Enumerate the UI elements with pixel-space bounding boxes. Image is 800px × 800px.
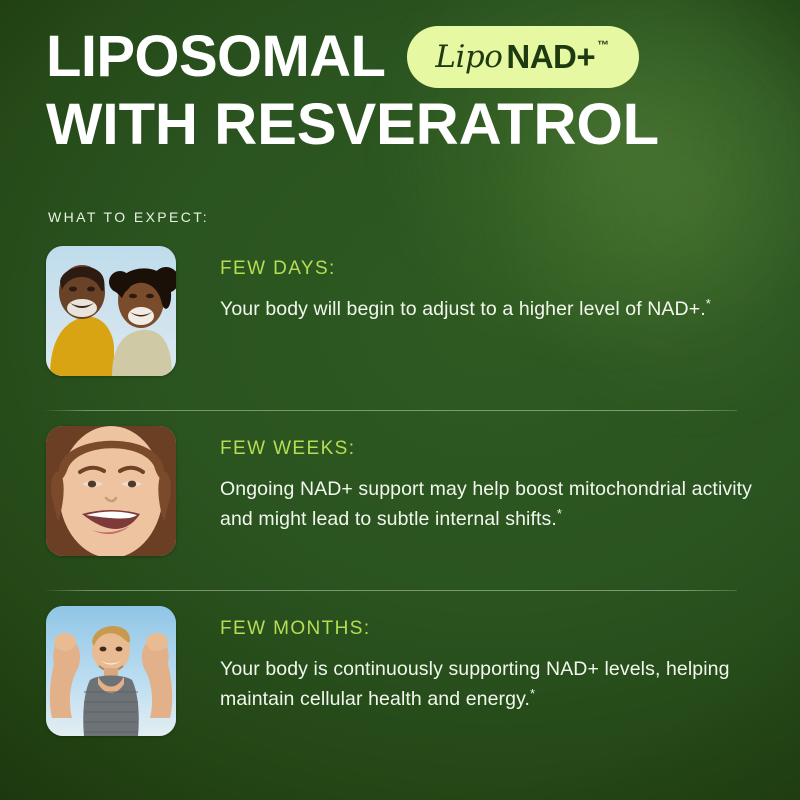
headline-row-first: LIPOSOMAL LipoNAD+™ bbox=[46, 26, 746, 88]
row-divider bbox=[46, 590, 737, 591]
content-layer: LIPOSOMAL LipoNAD+™ WITH RESVERATROL WHA… bbox=[0, 0, 800, 800]
list-item-body-text: Your body is continuously supporting NAD… bbox=[220, 658, 730, 710]
brand-badge-liponad: LipoNAD+™ bbox=[407, 26, 639, 88]
list-item-label: FEW MONTHS: bbox=[220, 618, 760, 640]
list-item: FEW MONTHS: Your body is continuously su… bbox=[0, 606, 800, 770]
footnote-asterisk: * bbox=[530, 686, 535, 701]
list-item-body: Your body is continuously supporting NAD… bbox=[220, 654, 760, 714]
list-item: FEW DAYS: Your body will begin to adjust… bbox=[0, 246, 800, 410]
expectations-list: FEW DAYS: Your body will begin to adjust… bbox=[0, 246, 800, 770]
headline-block: LIPOSOMAL LipoNAD+™ WITH RESVERATROL bbox=[46, 26, 746, 156]
row-divider bbox=[46, 410, 737, 411]
brand-nad-text: NAD+ bbox=[506, 38, 595, 76]
thumb-couple-laughing bbox=[46, 246, 176, 376]
eyebrow-label: WHAT TO EXPECT: bbox=[48, 209, 209, 225]
list-item: FEW WEEKS: Ongoing NAD+ support may help… bbox=[0, 426, 800, 590]
thumb-woman-smiling bbox=[46, 426, 176, 556]
list-item-text: FEW MONTHS: Your body is continuously su… bbox=[220, 606, 760, 714]
trademark-icon: ™ bbox=[597, 38, 609, 52]
brand-lipo-text: Lipo bbox=[435, 39, 502, 75]
list-item-body-text: Ongoing NAD+ support may help boost mito… bbox=[220, 478, 752, 530]
headline-row-second: WITH RESVERATROL bbox=[46, 94, 746, 156]
list-item-label: FEW WEEKS: bbox=[220, 438, 760, 460]
footnote-asterisk: * bbox=[557, 506, 562, 521]
list-item-text: FEW DAYS: Your body will begin to adjust… bbox=[220, 246, 711, 324]
headline-line-1: LIPOSOMAL bbox=[46, 28, 385, 86]
list-item-body: Your body will begin to adjust to a high… bbox=[220, 294, 711, 324]
list-item-body-text: Your body will begin to adjust to a high… bbox=[220, 298, 706, 320]
headline-line-2: WITH RESVERATROL bbox=[46, 96, 659, 154]
footnote-asterisk: * bbox=[706, 296, 711, 311]
infographic-canvas: LIPOSOMAL LipoNAD+™ WITH RESVERATROL WHA… bbox=[0, 0, 800, 800]
list-item-text: FEW WEEKS: Ongoing NAD+ support may help… bbox=[220, 426, 760, 534]
thumb-man-flexing bbox=[46, 606, 176, 736]
list-item-body: Ongoing NAD+ support may help boost mito… bbox=[220, 474, 760, 534]
list-item-label: FEW DAYS: bbox=[220, 258, 711, 280]
